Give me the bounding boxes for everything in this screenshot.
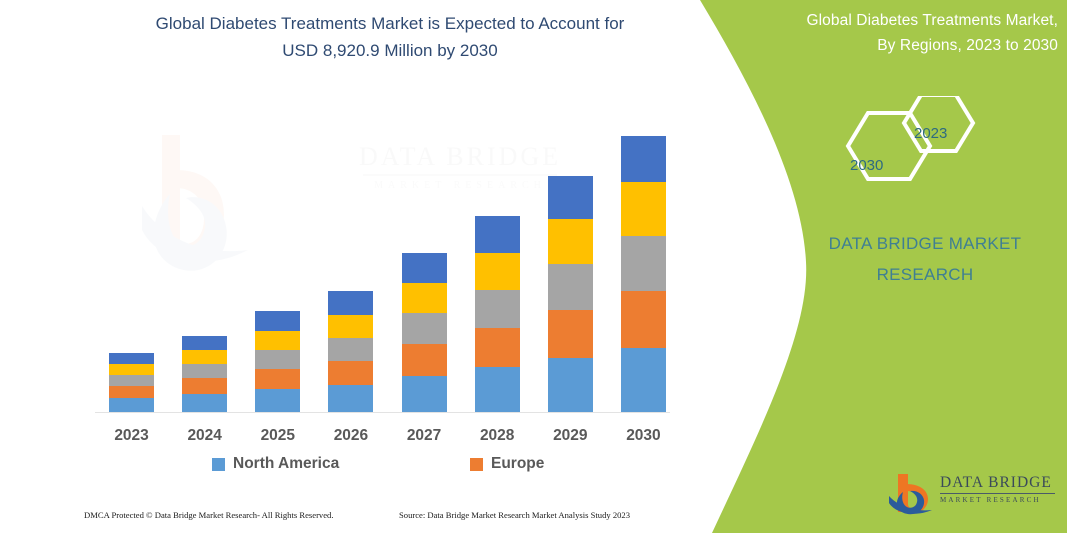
- bar-2027: [402, 253, 447, 412]
- hexagon-2023-label: 2023: [914, 125, 947, 142]
- bar-2028: [475, 216, 520, 412]
- bar-segment-2026-series-3: [328, 338, 373, 361]
- bar-segment-2025-series-5: [255, 311, 300, 331]
- bar-segment-2027-series-4: [402, 283, 447, 313]
- bar-2026: [328, 291, 373, 412]
- bar-segment-2023-series-5: [109, 353, 154, 364]
- footer-copyright: DMCA Protected © Data Bridge Market Rese…: [84, 510, 334, 520]
- footer-source: Source: Data Bridge Market Research Mark…: [399, 510, 630, 520]
- x-axis-label-2029: 2029: [534, 427, 606, 445]
- data-bridge-logo: DATA BRIDGE MARKET RESEARCH: [888, 472, 1053, 518]
- infographic-root: Global Diabetes Treatments Market, By Re…: [0, 0, 1067, 533]
- logo-divider: [940, 493, 1055, 494]
- bar-2025: [255, 311, 300, 412]
- bar-segment-2028-series-5: [475, 216, 520, 253]
- hexagon-badges: 2023 2030: [820, 96, 990, 201]
- bar-segment-2026-north-america: [328, 385, 373, 412]
- chart-title-line1: Global Diabetes Treatments Market is Exp…: [90, 10, 690, 37]
- legend-label: North America: [233, 455, 339, 473]
- bar-segment-2023-series-4: [109, 364, 154, 375]
- logo-name-bottom: MARKET RESEARCH: [940, 496, 1055, 505]
- bar-segment-2027-series-5: [402, 253, 447, 283]
- legend-swatch-icon: [212, 458, 225, 471]
- bar-segment-2026-series-4: [328, 315, 373, 338]
- hexagon-2030-label: 2030: [850, 157, 883, 174]
- bar-segment-2030-series-5: [621, 136, 666, 182]
- bar-segment-2029-series-5: [548, 176, 593, 219]
- bar-segment-2025-series-4: [255, 331, 300, 350]
- bar-segment-2030-north-america: [621, 348, 666, 412]
- bar-segment-2030-series-4: [621, 182, 666, 236]
- bar-segment-2029-series-4: [548, 219, 593, 264]
- bar-segment-2023-europe: [109, 386, 154, 398]
- bar-segment-2029-series-3: [548, 264, 593, 310]
- x-axis-label-2024: 2024: [169, 427, 241, 445]
- legend-swatch-icon: [470, 458, 483, 471]
- right-panel-brand: DATA BRIDGE MARKET RESEARCH: [800, 228, 1050, 290]
- right-panel-title: Global Diabetes Treatments Market, By Re…: [742, 8, 1058, 58]
- bar-segment-2027-north-america: [402, 376, 447, 412]
- x-axis-labels: 20232024202520262027202820292030: [95, 427, 680, 449]
- bar-segment-2028-series-4: [475, 253, 520, 290]
- bar-segment-2023-series-3: [109, 375, 154, 386]
- chart-legend: North AmericaEurope: [95, 455, 680, 481]
- x-axis-label-2030: 2030: [607, 427, 679, 445]
- stacked-bar-chart: [95, 110, 680, 412]
- legend-item-europe[interactable]: Europe: [470, 455, 544, 473]
- bar-segment-2030-europe: [621, 291, 666, 348]
- hexagon-outlines: [820, 96, 990, 201]
- bar-segment-2028-series-3: [475, 290, 520, 328]
- bar-segment-2028-north-america: [475, 367, 520, 412]
- bar-segment-2029-north-america: [548, 358, 593, 412]
- bar-segment-2024-series-5: [182, 336, 227, 350]
- bar-segment-2024-series-4: [182, 350, 227, 364]
- x-axis-line: [95, 412, 670, 413]
- chart-title-line2: USD 8,920.9 Million by 2030: [90, 37, 690, 64]
- bar-segment-2023-north-america: [109, 398, 154, 412]
- bar-segment-2024-europe: [182, 378, 227, 394]
- bar-2023: [109, 353, 154, 412]
- bar-segment-2027-europe: [402, 344, 447, 376]
- x-axis-label-2027: 2027: [388, 427, 460, 445]
- legend-item-north-america[interactable]: North America: [212, 455, 339, 473]
- bar-2029: [548, 176, 593, 412]
- bar-2030: [621, 136, 666, 412]
- bar-segment-2028-europe: [475, 328, 520, 367]
- bar-segment-2029-europe: [548, 310, 593, 358]
- right-panel-brand-line2: RESEARCH: [800, 259, 1050, 290]
- logo-name-top: DATA BRIDGE: [940, 474, 1055, 492]
- right-panel-title-line2: By Regions, 2023 to 2030: [742, 33, 1058, 58]
- bar-segment-2025-europe: [255, 369, 300, 389]
- bar-2024: [182, 336, 227, 412]
- bar-segment-2025-series-3: [255, 350, 300, 369]
- bar-segment-2026-series-5: [328, 291, 373, 315]
- data-bridge-logo-mark: [888, 472, 934, 516]
- footer: DMCA Protected © Data Bridge Market Rese…: [0, 506, 700, 528]
- legend-label: Europe: [491, 455, 544, 473]
- bar-segment-2027-series-3: [402, 313, 447, 344]
- right-panel-title-line1: Global Diabetes Treatments Market,: [742, 8, 1058, 33]
- x-axis-label-2023: 2023: [96, 427, 168, 445]
- x-axis-label-2025: 2025: [242, 427, 314, 445]
- bar-segment-2024-series-3: [182, 364, 227, 378]
- right-panel-brand-line1: DATA BRIDGE MARKET: [800, 228, 1050, 259]
- data-bridge-logo-text: DATA BRIDGE MARKET RESEARCH: [940, 474, 1055, 505]
- bar-segment-2030-series-3: [621, 236, 666, 291]
- x-axis-label-2028: 2028: [461, 427, 533, 445]
- chart-title: Global Diabetes Treatments Market is Exp…: [90, 10, 690, 64]
- x-axis-label-2026: 2026: [315, 427, 387, 445]
- bar-segment-2024-north-america: [182, 394, 227, 412]
- bar-segment-2026-europe: [328, 361, 373, 385]
- bar-segment-2025-north-america: [255, 389, 300, 412]
